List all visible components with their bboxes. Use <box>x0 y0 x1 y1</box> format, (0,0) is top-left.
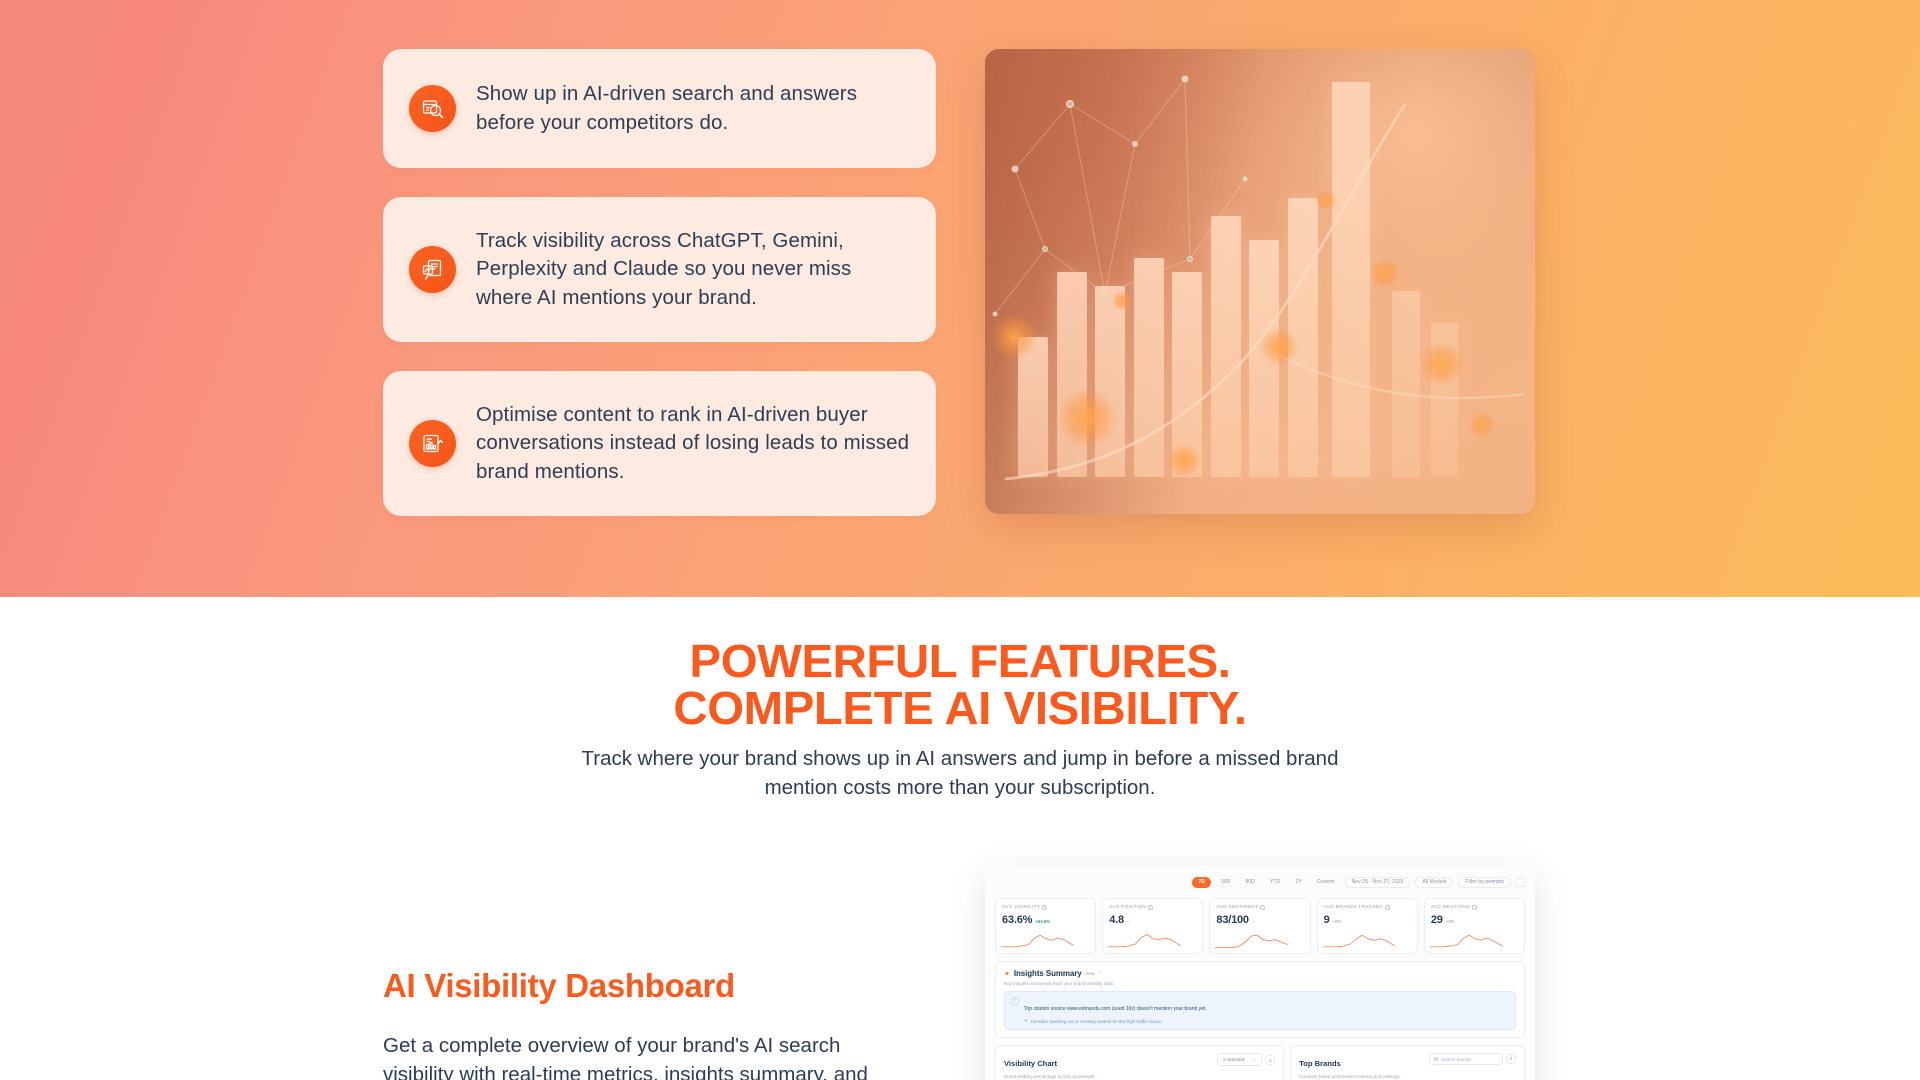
page-title: POWERFUL FEATURES. COMPLETE AI VISIBILIT… <box>0 638 1920 732</box>
metric-label-text: AVG BRANDS TRACKED <box>1324 905 1383 910</box>
top-brands-subtitle: Compare brand performance metrics and ra… <box>1299 1074 1400 1079</box>
metric-label: AVG VISIBILITY <box>1002 905 1089 910</box>
search-input[interactable]: Search brands... <box>1429 1053 1503 1065</box>
feature-block-body: Get a complete overview of your brand's … <box>383 1031 903 1080</box>
hero-section: Show up in AI-driven search and answers … <box>0 0 1920 597</box>
model-filter-dropdown[interactable]: All Models <box>1415 877 1453 889</box>
metric-delta: -- <box>1252 919 1255 924</box>
visibility-chart-title: Visibility Chart <box>1004 1059 1057 1068</box>
top-brands-title: Top Brands <box>1299 1059 1341 1068</box>
lightbulb-icon: ! <box>1011 997 1019 1005</box>
range-pill-custom[interactable]: Custom <box>1312 878 1340 888</box>
sparkline-chart <box>1430 933 1503 949</box>
feature-block-title: AI Visibility Dashboard <box>383 967 735 1005</box>
sparkle-small-icon: ✦ <box>1024 1018 1028 1024</box>
chevron-down-icon: ⌄ <box>1252 1057 1256 1063</box>
dashboard-window: 7D 30D 90D YTD 1Y Custom Nov 25 - Nov 27… <box>985 866 1535 1080</box>
top-brands-panel: Top Brands Compare brand performance met… <box>1290 1045 1525 1080</box>
metric-label: AVG POSITION <box>1109 905 1196 910</box>
metric-card-row: AVG VISIBILITY 63.6% +63.6% AVG POSITION <box>995 898 1525 954</box>
metric-card-position[interactable]: AVG POSITION 4.8 -- <box>1102 898 1203 954</box>
metric-card-brands-tracked[interactable]: AVG BRANDS TRACKED 9 +0% <box>1317 898 1418 954</box>
dashboard-filter-bar: 7D 30D 90D YTD 1Y Custom Nov 25 - Nov 27… <box>995 875 1525 890</box>
visibility-chart-panel: Visibility Chart Brand visibility percen… <box>995 1045 1284 1080</box>
range-pill-90d[interactable]: 90D <box>1240 878 1260 888</box>
info-icon[interactable] <box>1472 905 1477 910</box>
subtitle-line-1: Track where your brand shows up in AI an… <box>0 745 1920 774</box>
metric-value: 9 <box>1324 914 1330 926</box>
beta-badge: beta <box>1086 971 1095 976</box>
metric-delta: +0% <box>1446 919 1455 924</box>
bar-chart-document-icon <box>409 420 456 467</box>
search-magnifier-icon <box>409 85 456 132</box>
feature-card[interactable]: Show up in AI-driven search and answers … <box>383 49 936 168</box>
sparkle-icon: ✦ <box>1004 970 1010 978</box>
feature-card-text: Optimise content to rank in AI-driven bu… <box>476 401 910 487</box>
range-pill-1y[interactable]: 1Y <box>1290 878 1306 888</box>
search-placeholder: Search brands... <box>1441 1057 1475 1062</box>
page-subtitle: Track where your brand shows up in AI an… <box>0 745 1920 802</box>
insights-summary-panel: ✦ Insights Summary beta ⌃ Key insights a… <box>995 961 1525 1038</box>
metric-card-sentiment[interactable]: AVG SENTIMENT 83/100 -- <box>1209 898 1310 954</box>
insight-secondary: ✦ Consider reaching out or creating cont… <box>1024 1018 1207 1024</box>
metric-label-text: AVG SENTIMENT <box>1216 905 1258 910</box>
insight-primary-text: Top citation source www.edmunds.com (use… <box>1024 1006 1207 1012</box>
series-select-label: 5 selected <box>1223 1057 1244 1062</box>
metric-label-text: AVG MENTIONS <box>1431 905 1470 910</box>
metric-label: AVG BRANDS TRACKED <box>1324 905 1411 910</box>
sparkline-chart <box>1001 933 1074 949</box>
sparkline-chart <box>1215 933 1288 949</box>
headline-line-2: COMPLETE AI VISIBILITY. <box>0 685 1920 732</box>
headline-line-1: POWERFUL FEATURES. <box>690 635 1231 687</box>
metric-label: AVG MENTIONS <box>1431 905 1518 910</box>
download-icon[interactable]: ⤓ <box>1265 1055 1275 1065</box>
metric-label-text: AVG POSITION <box>1109 905 1146 910</box>
hero-photo <box>985 49 1535 514</box>
info-icon[interactable] <box>1042 905 1047 910</box>
feature-body-line-1: Get a complete overview of your brand's … <box>383 1034 840 1057</box>
visibility-chart-subtitle: Brand visibility percentage across all p… <box>1004 1074 1094 1079</box>
feature-card-list: Show up in AI-driven search and answers … <box>383 49 936 516</box>
insight-secondary-text: Consider reaching out or creating conten… <box>1031 1019 1162 1024</box>
analytics-report-icon <box>409 246 456 293</box>
landing-page: Show up in AI-driven search and answers … <box>0 0 1920 1080</box>
metric-label-text: AVG VISIBILITY <box>1002 905 1040 910</box>
insight-item[interactable]: ! Top citation source www.edmunds.com (u… <box>1004 991 1516 1030</box>
search-icon <box>1434 1057 1438 1061</box>
sparkline-chart <box>1108 933 1181 949</box>
insights-subtitle: Key insights and trends from your brand … <box>1004 981 1516 986</box>
metric-card-mentions[interactable]: AVG MENTIONS 29 +0% <box>1424 898 1525 954</box>
info-icon[interactable] <box>1148 905 1153 910</box>
feature-card-text: Track visibility across ChatGPT, Gemini,… <box>476 227 910 313</box>
feature-card-text: Show up in AI-driven search and answers … <box>476 80 910 137</box>
metric-delta: +0% <box>1333 919 1342 924</box>
range-pill-ytd[interactable]: YTD <box>1265 878 1285 888</box>
feature-card[interactable]: Track visibility across ChatGPT, Gemini,… <box>383 197 936 342</box>
range-pill-7d[interactable]: 7D <box>1192 877 1211 889</box>
filter-icon[interactable]: ≡ <box>1506 1054 1516 1064</box>
photo-orange-tint <box>985 49 1535 514</box>
feature-body-line-2: visibility with real-time metrics, insig… <box>383 1063 868 1080</box>
grid-view-icon[interactable] <box>1516 878 1525 887</box>
chevron-up-icon[interactable]: ⌃ <box>1098 971 1102 977</box>
feature-card[interactable]: Optimise content to rank in AI-driven bu… <box>383 371 936 516</box>
metric-card-visibility[interactable]: AVG VISIBILITY 63.6% +63.6% <box>995 898 1096 954</box>
info-icon[interactable] <box>1385 905 1390 910</box>
series-select-dropdown[interactable]: 5 selected ⌄ <box>1217 1053 1262 1066</box>
subtitle-line-2: mention costs more than your subscriptio… <box>0 774 1920 803</box>
info-icon[interactable] <box>1260 905 1265 910</box>
range-pill-30d[interactable]: 30D <box>1216 878 1236 888</box>
insights-title: Insights Summary <box>1014 969 1082 978</box>
dashboard-bottom-row: Visibility Chart Brand visibility percen… <box>995 1045 1525 1080</box>
metric-delta: +63.6% <box>1035 919 1050 924</box>
date-range-selector[interactable]: Nov 25 - Nov 27, 2025 <box>1345 877 1411 889</box>
metric-value: 63.6% <box>1002 914 1032 926</box>
metric-value: 29 <box>1431 914 1443 926</box>
metric-value: 83/100 <box>1216 914 1248 926</box>
sparkline-chart <box>1323 933 1396 949</box>
features-section: POWERFUL FEATURES. COMPLETE AI VISIBILIT… <box>0 597 1920 1080</box>
prompt-filter-dropdown[interactable]: Filter by prompts <box>1458 877 1511 889</box>
metric-label: AVG SENTIMENT <box>1216 905 1303 910</box>
dashboard-screenshot: 7D 30D 90D YTD 1Y Custom Nov 25 - Nov 27… <box>985 866 1535 1080</box>
metric-value: 4.8 <box>1109 914 1124 926</box>
metric-delta: -- <box>1127 919 1130 924</box>
